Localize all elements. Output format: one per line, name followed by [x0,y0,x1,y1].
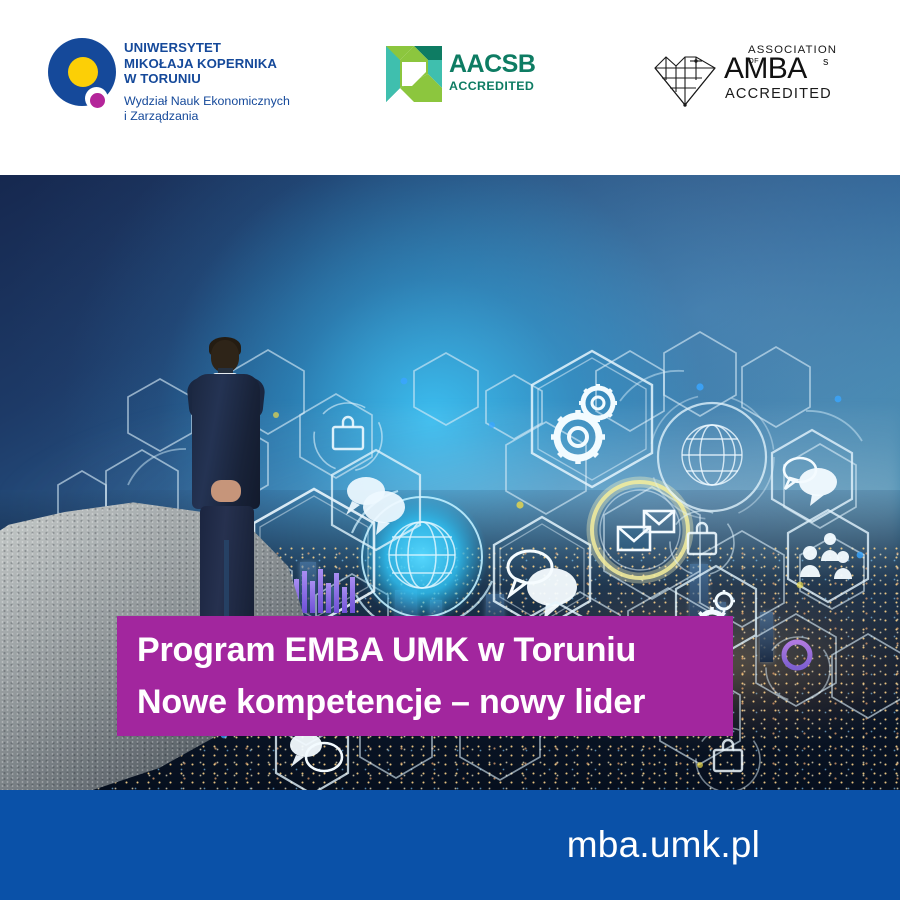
briefcase-icon [333,417,363,449]
globe-circle-right [650,395,774,519]
umk-faculty-name: Wydział Nauk Ekonomicznych i Zarządzania [124,94,324,125]
gears-icon [551,384,617,464]
footer-bar: mba.umk.pl [0,790,900,900]
briefcase-circle-right [670,511,734,575]
amba-logo: ASSOCIATION OF AMBA s ACCREDITED [652,44,832,116]
emba-promo-poster: UNIWERSYTET MIKOŁAJA KOPERNIKA W TORUNIU… [0,0,900,900]
envelope-icon [618,511,674,550]
umk-emblem-icon [48,38,122,116]
umk-inner-circle-shape [68,57,98,87]
umk-logo: UNIWERSYTET MIKOŁAJA KOPERNIKA W TORUNIU… [48,36,313,132]
umk-magenta-dot-shape [90,93,105,108]
headline-line-1: Program EMBA UMK w Toruniu [137,624,713,676]
figure-hands [211,480,241,502]
headline-line-2: Nowe kompetencje – nowy lider [137,676,713,728]
briefcase-circle-bottom [696,728,760,790]
chat-bubbles-icon [290,733,342,771]
umk-university-name: UNIWERSYTET MIKOŁAJA KOPERNIKA W TORUNIU [124,40,324,87]
magnifier-icon [784,642,810,691]
umk-logo-text: UNIWERSYTET MIKOŁAJA KOPERNIKA W TORUNIU… [124,40,324,125]
aacsb-logo: AACSB ACCREDITED [386,46,546,108]
aacsb-wordmark: AACSB [449,52,535,77]
accreditation-header: UNIWERSYTET MIKOŁAJA KOPERNIKA W TORUNIU… [0,0,900,175]
aacsb-logo-text: AACSB ACCREDITED [449,52,535,93]
briefcase-icon [714,740,742,771]
aacsb-emblem-icon [386,46,442,102]
magnifier-right [766,637,830,701]
headline-banner: Program EMBA UMK w Toruniu Nowe kompeten… [117,616,733,736]
aacsb-accredited-label: ACCREDITED [449,79,535,93]
amba-diamond-icon [652,50,718,108]
people-group-icon [800,533,852,579]
globe-icon [682,425,742,485]
website-url[interactable]: mba.umk.pl [567,824,760,866]
gears-hex [532,351,652,487]
amba-accredited-label: ACCREDITED [725,86,832,102]
amba-wordmark: AMBA [724,54,807,84]
chat-bubbles-icon [784,458,837,506]
amba-s-suffix: s [823,56,829,68]
